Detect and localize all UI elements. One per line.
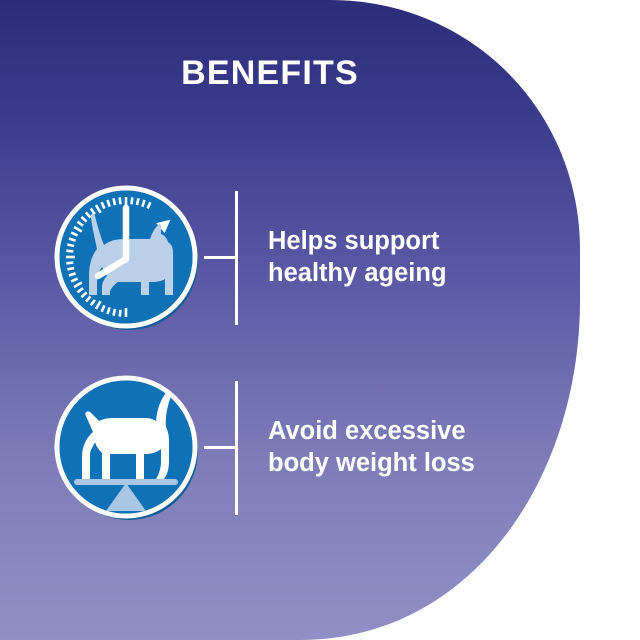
- benefit-label: Helps support healthy ageing: [268, 226, 447, 289]
- page-title: BENEFITS: [0, 54, 540, 93]
- benefits-panel: BENEFITS: [0, 0, 640, 640]
- balance-cat-icon: [52, 373, 202, 523]
- benefit-label: Avoid excessive body weight loss: [268, 416, 475, 479]
- connector-tick: [204, 446, 238, 449]
- benefit-connector: [202, 373, 242, 523]
- connector-tick: [204, 256, 238, 259]
- benefit-item: Avoid excessive body weight loss: [52, 373, 475, 523]
- benefit-connector: [202, 183, 242, 333]
- clock-cat-icon: [52, 183, 202, 333]
- benefit-item: Helps support healthy ageing: [52, 183, 447, 333]
